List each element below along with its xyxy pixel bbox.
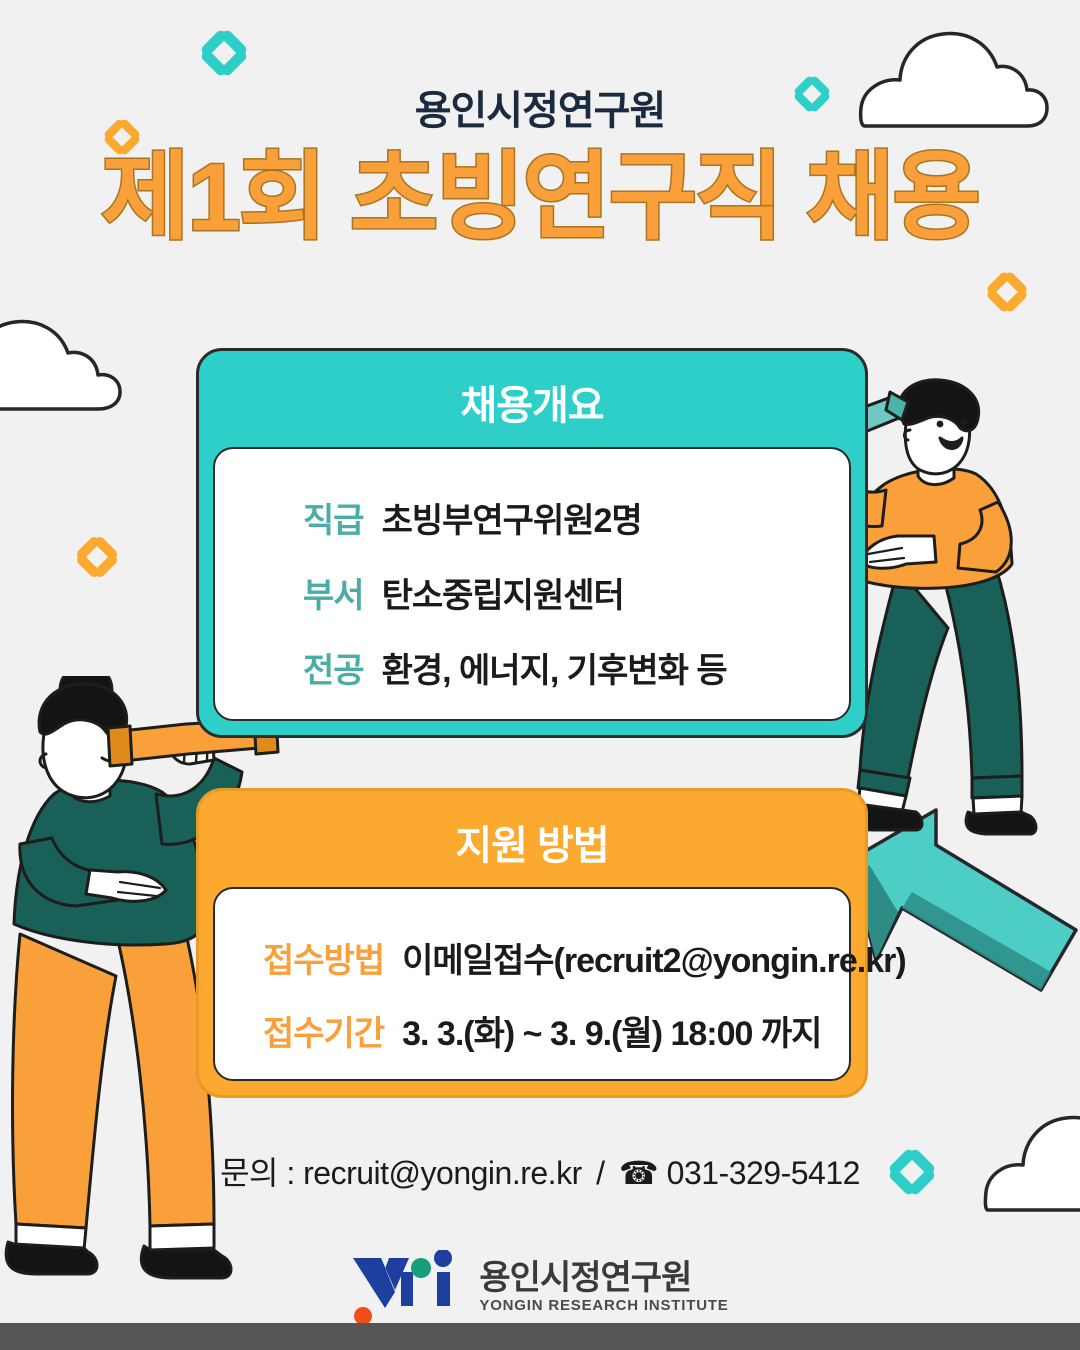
poster-root: 용인시정연구원 제1회 초빙연구직 채용 — [0, 0, 1080, 1350]
organization-name: 용인시정연구원 — [0, 78, 1080, 136]
contact-line: 문의 : recruit@yongin.re.kr / ☎ 031-329-54… — [0, 1148, 1080, 1194]
table-row: 부서 탄소중립지원센터 — [303, 568, 727, 617]
row-value: 3. 3.(화) ~ 3. 9.(월) 18:00 까지 — [402, 1006, 821, 1055]
page-title: 제1회 초빙연구직 채용 — [0, 150, 1080, 246]
table-row: 접수기간 3. 3.(화) ~ 3. 9.(월) 18:00 까지 — [263, 1006, 906, 1055]
row-value: 환경, 에너지, 기후변화 등 — [382, 643, 727, 692]
institute-logo: 용인시정연구원 YONGIN RESEARCH INSTITUTE — [0, 1250, 1080, 1324]
card-body-application-method: 접수방법 이메일접수(recruit2@yongin.re.kr) 접수기간 3… — [213, 887, 851, 1081]
card-body-recruitment-overview: 직급 초빙부연구위원2명 부서 탄소중립지원센터 전공 환경, 에너지, 기후변… — [213, 447, 851, 721]
row-value: 탄소중립지원센터 — [382, 568, 624, 617]
yri-logo-mark-icon — [351, 1250, 463, 1324]
row-label: 직급 — [303, 493, 364, 542]
card-application-method: 지원 방법 접수방법 이메일접수(recruit2@yongin.re.kr) … — [196, 788, 868, 1098]
logo-name-en: YONGIN RESEARCH INSTITUTE — [479, 1297, 728, 1314]
card-recruitment-overview: 채용개요 직급 초빙부연구위원2명 부서 탄소중립지원센터 전공 환경, 에너지… — [196, 348, 868, 738]
row-label: 전공 — [303, 643, 364, 692]
sparkle-left-icon — [73, 533, 122, 582]
sparkle-top-left-icon — [197, 26, 251, 80]
phone-icon: ☎ — [619, 1155, 658, 1191]
bottom-bar — [0, 1323, 1080, 1350]
logo-text-block: 용인시정연구원 YONGIN RESEARCH INSTITUTE — [479, 1260, 728, 1314]
table-row: 직급 초빙부연구위원2명 — [303, 493, 727, 542]
application-row-list: 접수방법 이메일접수(recruit2@yongin.re.kr) 접수기간 3… — [263, 933, 906, 1055]
row-value: 초빙부연구위원2명 — [382, 493, 642, 542]
logo-name-ko: 용인시정연구원 — [479, 1260, 728, 1297]
row-label: 접수기간 — [263, 1006, 384, 1055]
table-row: 전공 환경, 에너지, 기후변화 등 — [303, 643, 727, 692]
table-row: 접수방법 이메일접수(recruit2@yongin.re.kr) — [263, 933, 906, 982]
card-header-application-method: 지원 방법 — [199, 791, 865, 871]
row-value: 이메일접수(recruit2@yongin.re.kr) — [402, 933, 906, 982]
cloud-left-icon — [0, 315, 130, 415]
contact-label: 문의 : — [220, 1155, 295, 1191]
sparkle-right-icon — [983, 268, 1031, 316]
contact-email[interactable]: recruit@yongin.re.kr — [303, 1155, 582, 1191]
contact-separator: / — [596, 1155, 604, 1191]
overview-row-list: 직급 초빙부연구위원2명 부서 탄소중립지원센터 전공 환경, 에너지, 기후변… — [303, 493, 727, 692]
card-header-recruitment-overview: 채용개요 — [199, 351, 865, 431]
row-label: 부서 — [303, 568, 364, 617]
row-label: 접수방법 — [263, 933, 384, 982]
contact-phone[interactable]: 031-329-5412 — [667, 1155, 860, 1191]
